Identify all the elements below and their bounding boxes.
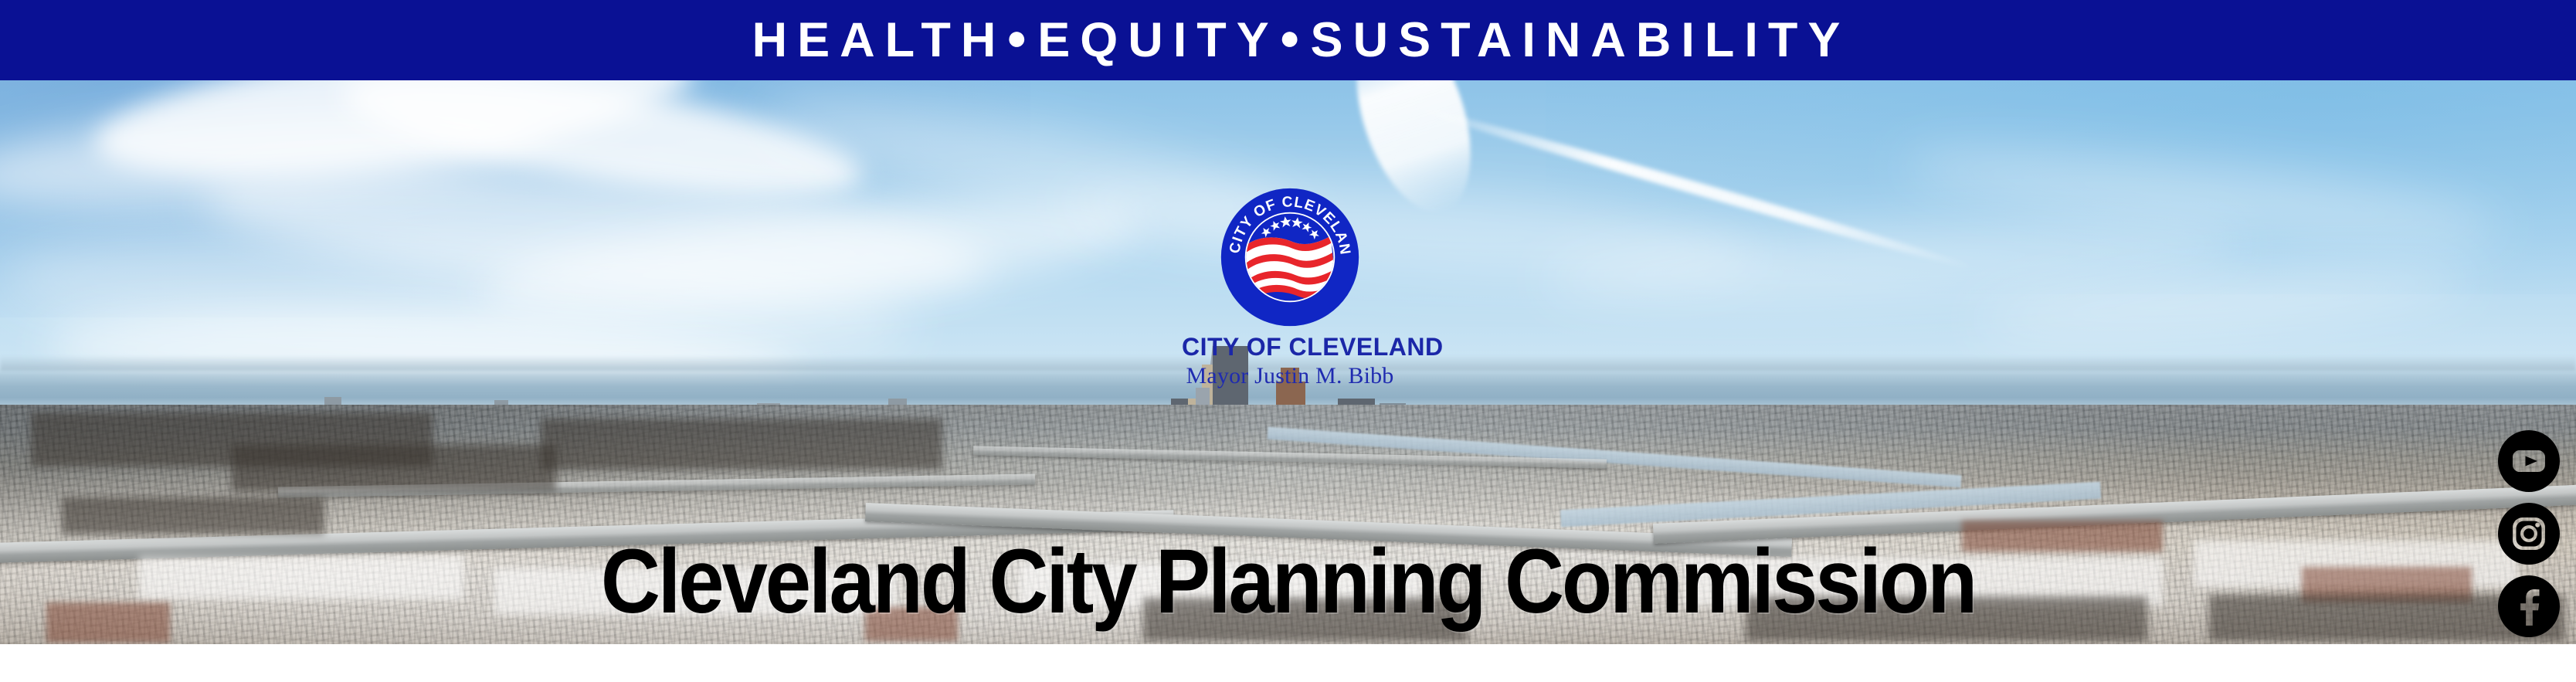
tagline-banner: HEALTH ● EQUITY ● SUSTAINABILITY [0, 0, 2576, 80]
city-seal-group: CITY OF CLEVELAND OHIO CITY OF CLEVELAND… [1182, 187, 1398, 388]
city-of-cleveland-seal-icon: CITY OF CLEVELAND OHIO [1220, 187, 1360, 327]
tagline-word-sustainability: SUSTAINABILITY [1311, 16, 1851, 65]
youtube-icon[interactable] [2497, 429, 2561, 493]
instagram-icon[interactable] [2497, 502, 2561, 565]
social-links-rail [2497, 429, 2561, 644]
tagline-word-health: HEALTH [752, 16, 1006, 65]
page-root: HEALTH ● EQUITY ● SUSTAINABILITY [0, 0, 2576, 682]
hero-photo: CITY OF CLEVELAND OHIO CITY OF CLEVELAND… [0, 80, 2576, 644]
instagram-link[interactable] [2497, 502, 2561, 565]
tagline-separator-dot-2: ● [1279, 19, 1311, 55]
facebook-icon[interactable] [2497, 575, 2561, 638]
city-wordmark: CITY OF CLEVELAND [1182, 334, 1398, 361]
tagline-word-equity: EQUITY [1037, 16, 1279, 65]
tagline-separator-dot-1: ● [1006, 19, 1037, 55]
hero-title: Cleveland City Planning Commission [122, 536, 2453, 627]
facebook-link[interactable] [2497, 575, 2561, 638]
bottom-white-strip [0, 644, 2576, 682]
youtube-link[interactable] [2497, 429, 2561, 493]
mayor-line: Mayor Justin M. Bibb [1182, 364, 1398, 389]
tagline-text: HEALTH ● EQUITY ● SUSTAINABILITY [0, 0, 2576, 80]
